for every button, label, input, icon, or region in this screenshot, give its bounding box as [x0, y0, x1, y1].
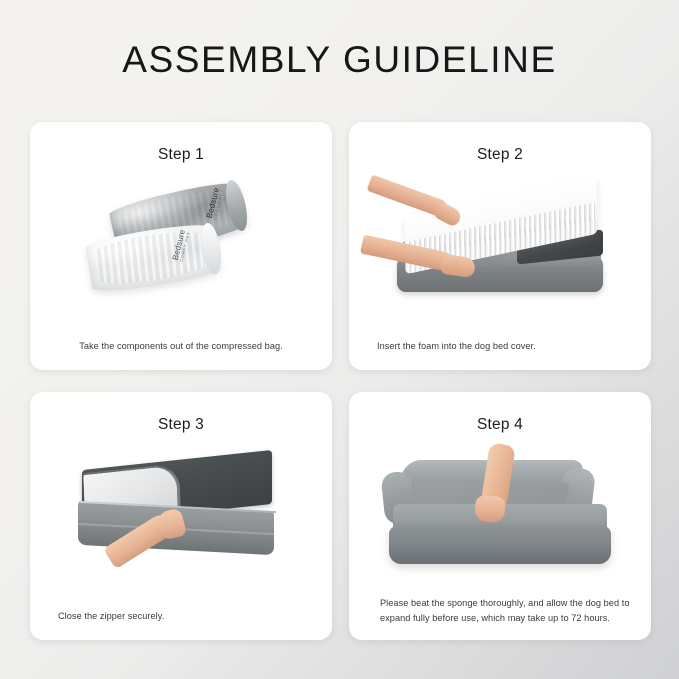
- step-2-heading: Step 2: [349, 146, 651, 164]
- step-3-caption: Close the zipper securely.: [58, 609, 312, 624]
- steps-grid: Step 1 Bedsure COMFY PET Bedsure COMFY P…: [30, 122, 651, 652]
- bed-base-icon: [389, 526, 611, 564]
- step-1-caption: Take the components out of the compresse…: [44, 339, 318, 354]
- step-card-2: Step 2 Insert the foam into the dog bed …: [349, 122, 651, 370]
- step-4-caption: Please beat the sponge thoroughly, and a…: [380, 596, 637, 626]
- step-4-heading: Step 4: [349, 416, 651, 434]
- step-3-heading: Step 3: [30, 416, 332, 434]
- step-card-3: Step 3 Close the zipper securely.: [30, 392, 332, 640]
- step-2-illustration: [349, 182, 651, 304]
- step-3-illustration: [30, 454, 332, 578]
- hand-icon: [474, 495, 506, 523]
- compressed-roll-white-icon: [84, 220, 221, 296]
- step-2-caption: Insert the foam into the dog bed cover.: [377, 339, 631, 354]
- step-1-heading: Step 1: [30, 146, 332, 164]
- page-title: ASSEMBLY GUIDELINE: [0, 40, 679, 81]
- step-4-illustration: [349, 448, 651, 576]
- step-card-4: Step 4 Please beat the sponge thoroughly…: [349, 392, 651, 640]
- step-1-illustration: Bedsure COMFY PET Bedsure COMFY PET: [30, 180, 332, 300]
- step-card-1: Step 1 Bedsure COMFY PET Bedsure COMFY P…: [30, 122, 332, 370]
